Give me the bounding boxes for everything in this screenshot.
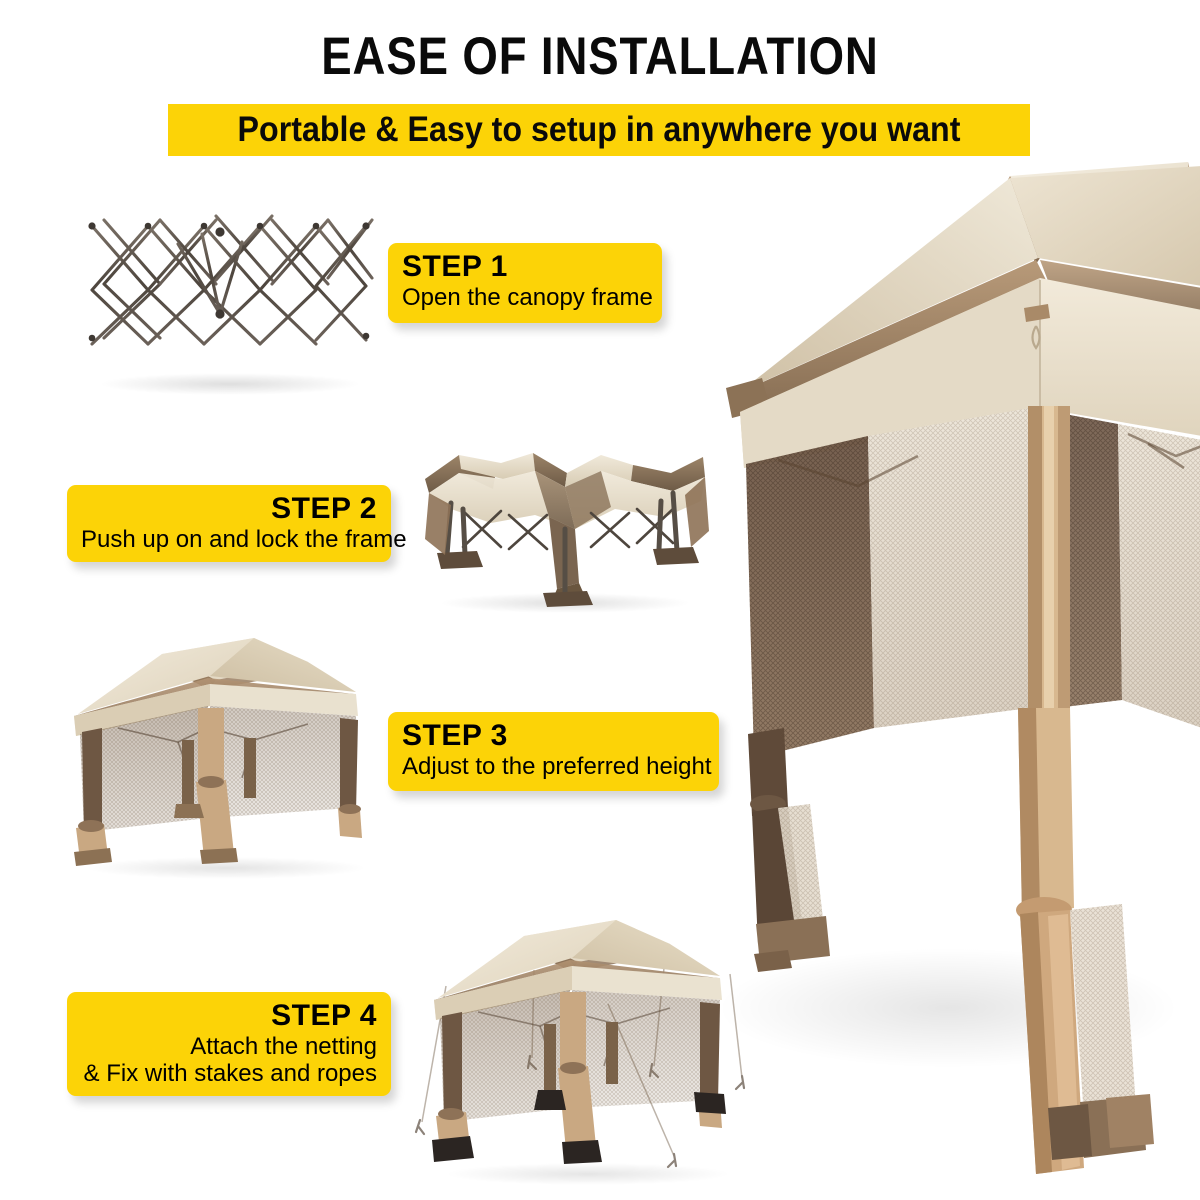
step-callout-3[interactable]: STEP 3 Adjust to the preferred height (388, 712, 719, 791)
step-1-title: STEP 1 (402, 250, 648, 284)
step-2-description-line-1: Push up on and lock the frame (81, 526, 377, 553)
step-callout-1[interactable]: STEP 1 Open the canopy frame (388, 243, 662, 323)
step-3-title: STEP 3 (402, 719, 705, 753)
step-callout-4[interactable]: STEP 4 Attach the netting & Fix with sta… (67, 992, 391, 1096)
folding-frame-photo (70, 186, 382, 396)
step-3-description-line-1: Adjust to the preferred height (402, 753, 705, 780)
step-1-description-line-1: Open the canopy frame (402, 284, 648, 311)
staked-gazebo-photo (412, 912, 750, 1190)
page-title: EASE OF INSTALLATION (84, 26, 1116, 87)
step-callout-2[interactable]: STEP 2 Push up on and lock the frame (67, 485, 391, 562)
hero-gazebo-photo (718, 168, 1200, 1178)
subtitle-banner: Portable & Easy to setup in anywhere you… (168, 104, 1030, 156)
partially-open-canopy-photo (415, 443, 715, 613)
step-4-title: STEP 4 (81, 999, 377, 1033)
infographic-page: EASE OF INSTALLATION Portable & Easy to … (0, 0, 1200, 1200)
step-2-title: STEP 2 (81, 492, 377, 526)
subtitle-text: Portable & Easy to setup in anywhere you… (202, 104, 995, 156)
assembled-gazebo-photo (58, 632, 388, 880)
step-4-description-line-1: Attach the netting (81, 1033, 377, 1060)
step-4-description-line-2: & Fix with stakes and ropes (81, 1060, 377, 1087)
